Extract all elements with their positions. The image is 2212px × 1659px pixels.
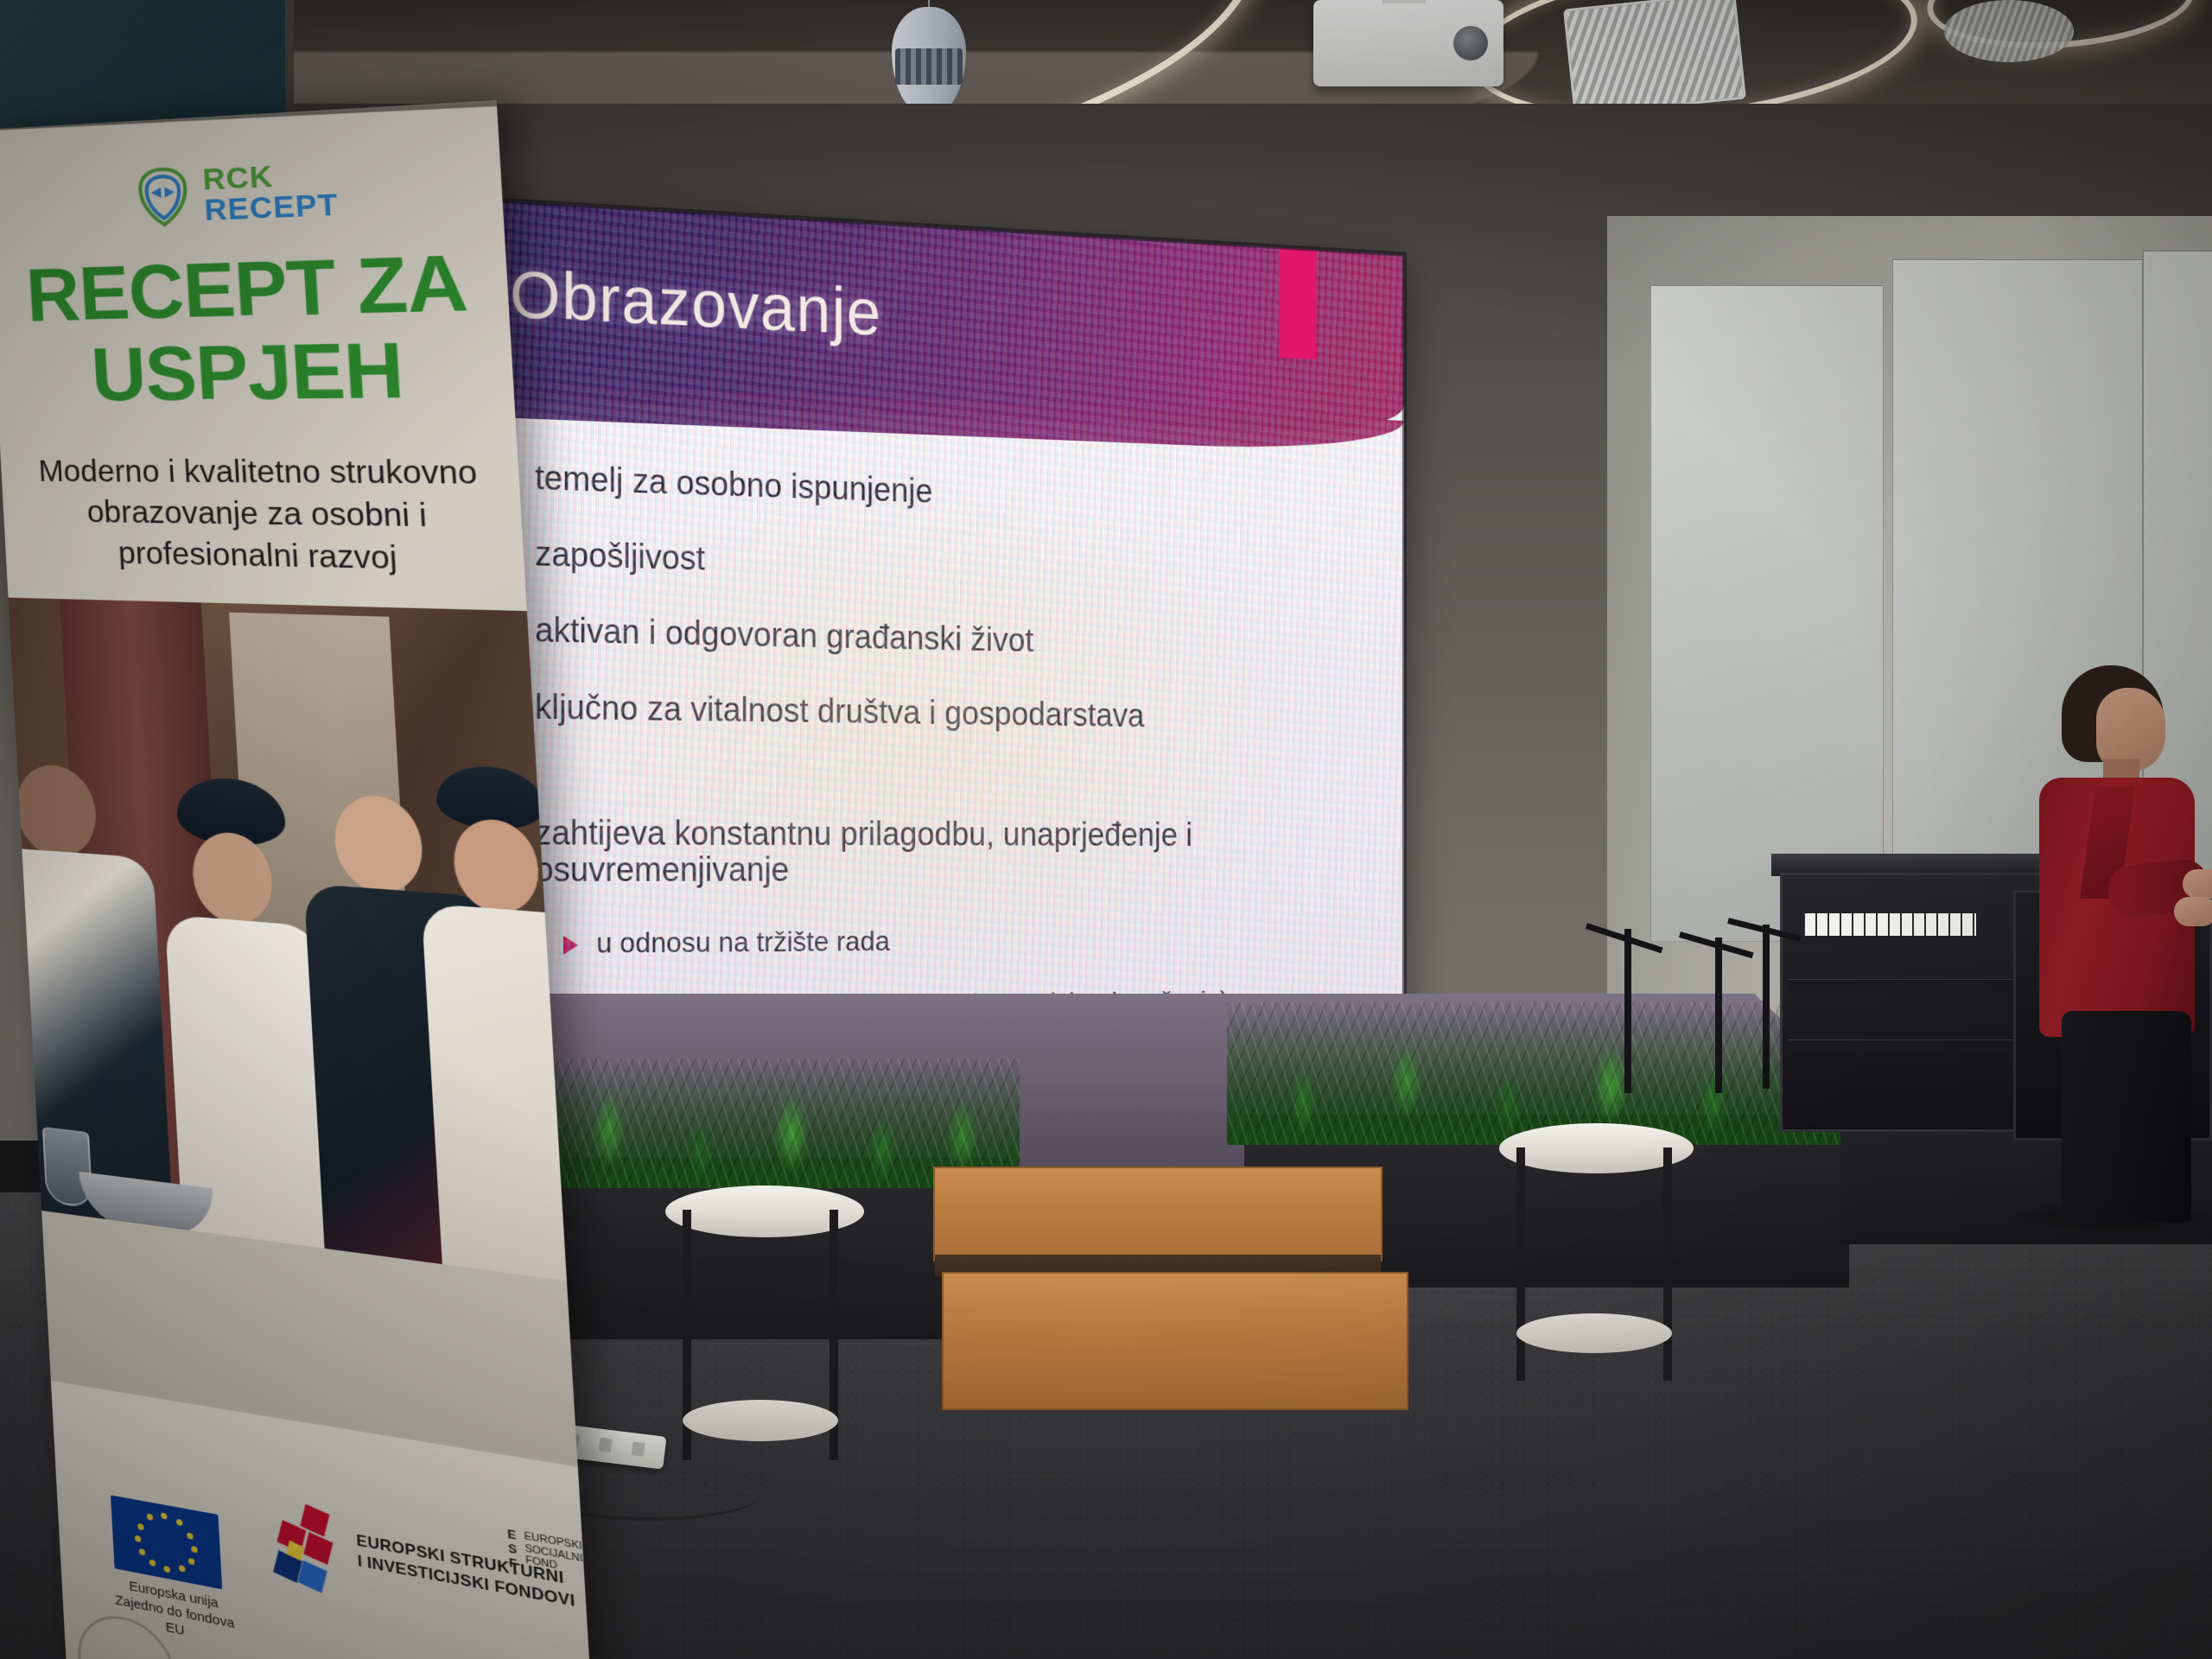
slide-bullet-list: temelj za osobno ispunjenje zapošljivost…: [498, 459, 1376, 1060]
eu-flag-icon: [111, 1495, 222, 1589]
student-head: [191, 830, 275, 927]
student-head: [451, 817, 541, 916]
presenter-hand: [2183, 869, 2212, 899]
bullet-text: temelj za osobno ispunjenje: [535, 460, 932, 510]
table-leg: [1663, 1147, 1672, 1381]
presenter-figure: [2013, 665, 2212, 1218]
presenter-trousers: [2062, 1011, 2191, 1223]
wooden-step-lower: [942, 1272, 1408, 1410]
banner-headline-line2: USPJEH: [20, 329, 486, 413]
led-video-wall: Obrazovanje temelj za osobno ispunjenje …: [432, 197, 1404, 1061]
bullet-text: aktivan i odgovoran građanski život: [535, 613, 1033, 659]
rck-shield-icon: [132, 164, 194, 229]
projector-mount: [1382, 0, 1426, 3]
hvac-grille-icon: [1944, 0, 2074, 62]
microphone-stand: [1715, 938, 1722, 1093]
socket-icon: [632, 1441, 645, 1457]
banner-subtitle: Moderno i kvalitetno strukovno obrazovan…: [31, 452, 492, 582]
projector-icon: [1313, 0, 1503, 86]
esif-diamond-icon: [268, 1500, 358, 1599]
glass-partition-panel: [1650, 285, 1884, 942]
banner-headline-line1: RECEPT ZA: [24, 238, 469, 338]
patch-panel: [1803, 913, 1976, 936]
student-head: [333, 793, 425, 895]
rollup-banner: RCK RECEPT RECEPT ZA USPJEH Moderno i kv…: [0, 100, 599, 1659]
socket-icon: [599, 1438, 613, 1453]
student-head: [14, 763, 99, 860]
rck-logo-line2: RECEPT: [204, 189, 340, 226]
student-body: [421, 903, 566, 1281]
bullet-text: zahtijeva konstantnu prilagodbu, unaprje…: [535, 815, 1376, 889]
banner-funding-logos: Europska unija Zajedno do fondova EU EUR…: [51, 1378, 599, 1659]
wooden-step-upper: [933, 1166, 1382, 1262]
leaf-texture: [1227, 1002, 1866, 1145]
slide-sub-bullet-item: u odnosu na tržište rada: [563, 924, 1376, 959]
hvac-grille-icon: [1563, 0, 1746, 117]
banner-student-photo: [9, 598, 567, 1281]
slide-accent-bar: [1279, 238, 1317, 359]
rck-logo-text: RCK RECEPT: [202, 158, 340, 226]
rck-recept-logo: RCK RECEPT: [132, 157, 340, 229]
esf-letter: F: [509, 1556, 518, 1572]
conference-room-scene: Obrazovanje temelj za osobno ispunjenje …: [0, 0, 2212, 1659]
table-lower-shelf: [1516, 1313, 1672, 1353]
microphone-stand: [1763, 925, 1770, 1089]
slide-bullet-item: zapošljivost: [498, 535, 1376, 595]
bullet-text: u odnosu na tržište rada: [596, 926, 890, 959]
projector-lens-icon: [1453, 26, 1488, 60]
slide-bullet-item: ključno za vitalnost društva i gospodars…: [498, 689, 1376, 737]
microphone-stand: [1624, 929, 1631, 1093]
presenter-hand: [2174, 897, 2212, 926]
bullet-text: ključno za vitalnost društva i gospodars…: [535, 689, 1144, 734]
slide-bullet-item: zahtijeva konstantnu prilagodbu, unaprje…: [498, 815, 1376, 889]
triangle-bullet-icon: [563, 936, 578, 955]
bullet-text: zapošljivost: [535, 537, 705, 578]
banner-headline: RECEPT ZA USPJEH: [16, 243, 486, 413]
table-leg: [1516, 1147, 1525, 1381]
slide-bullet-item: temelj za osobno ispunjenje: [498, 459, 1376, 525]
table-lower-shelf: [683, 1400, 838, 1441]
slide-surface: Obrazovanje temelj za osobno ispunjenje …: [432, 197, 1404, 1061]
slide-bullet-item: aktivan i odgovoran građanski život: [498, 612, 1376, 666]
greenery-plants: [1227, 1002, 1866, 1145]
